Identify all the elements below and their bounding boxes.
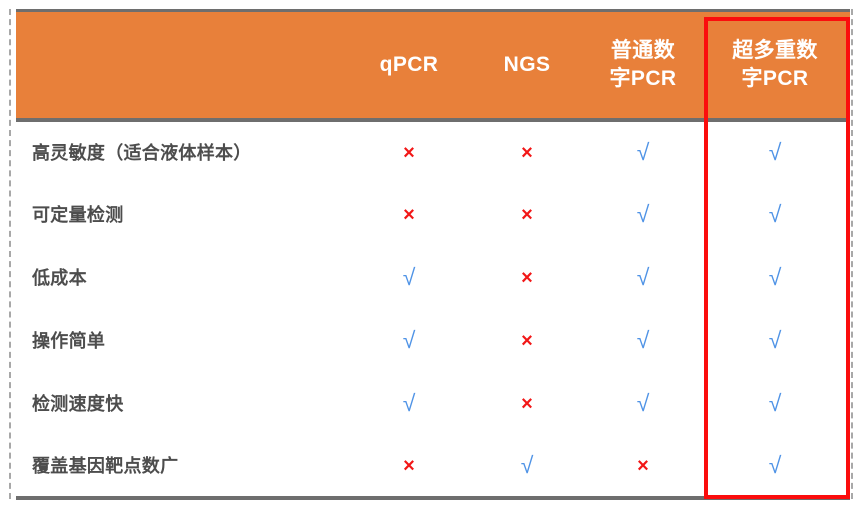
cell-multiplex-digital-pcr: √ — [700, 246, 850, 309]
row-label: 覆盖基因靶点数广 — [16, 435, 350, 498]
check-icon: √ — [637, 264, 650, 290]
cross-icon: × — [403, 204, 415, 226]
cell-digital-pcr: √ — [586, 246, 700, 309]
check-icon: √ — [769, 327, 782, 353]
check-icon: √ — [403, 327, 416, 353]
table-row: 覆盖基因靶点数广 × √ × √ — [16, 435, 850, 498]
cell-digital-pcr: √ — [586, 372, 700, 435]
column-header-multiplex-digital-pcr-line1: 超多重数 — [700, 37, 850, 65]
cell-ngs: × — [468, 183, 586, 246]
column-header-qpcr: qPCR — [350, 11, 468, 120]
comparison-table: qPCR NGS 普通数 字PCR 超多重数 字PCR 高灵敏度（适合液体样本）… — [16, 9, 850, 500]
column-header-digital-pcr-line1: 普通数 — [586, 37, 700, 65]
row-label: 操作简单 — [16, 309, 350, 372]
check-icon: √ — [637, 390, 650, 416]
cell-digital-pcr: √ — [586, 120, 700, 183]
table-row: 低成本 √ × √ √ — [16, 246, 850, 309]
check-icon: √ — [769, 139, 782, 165]
table-body: 高灵敏度（适合液体样本） × × √ √ 可定量检测 × × √ √ 低成本 √… — [16, 120, 850, 498]
cell-ngs: × — [468, 309, 586, 372]
check-icon: √ — [769, 201, 782, 227]
table-row: 检测速度快 √ × √ √ — [16, 372, 850, 435]
cell-qpcr: √ — [350, 372, 468, 435]
cross-icon: × — [403, 455, 415, 477]
check-icon: √ — [521, 452, 534, 478]
cell-multiplex-digital-pcr: √ — [700, 120, 850, 183]
check-icon: √ — [403, 264, 416, 290]
comparison-table-container: qPCR NGS 普通数 字PCR 超多重数 字PCR 高灵敏度（适合液体样本）… — [9, 9, 853, 499]
cell-ngs: × — [468, 372, 586, 435]
check-icon: √ — [403, 390, 416, 416]
column-header-multiplex-digital-pcr: 超多重数 字PCR — [700, 11, 850, 120]
check-icon: √ — [769, 390, 782, 416]
table-header: qPCR NGS 普通数 字PCR 超多重数 字PCR — [16, 11, 850, 120]
cell-qpcr: √ — [350, 309, 468, 372]
cell-ngs: √ — [468, 435, 586, 498]
column-header-digital-pcr-line2: 字PCR — [586, 65, 700, 93]
cell-digital-pcr: √ — [586, 183, 700, 246]
column-header-digital-pcr: 普通数 字PCR — [586, 11, 700, 120]
cross-icon: × — [521, 142, 533, 164]
cell-qpcr: × — [350, 183, 468, 246]
check-icon: √ — [637, 139, 650, 165]
cell-multiplex-digital-pcr: √ — [700, 435, 850, 498]
cell-qpcr: × — [350, 435, 468, 498]
cell-digital-pcr: √ — [586, 309, 700, 372]
cell-ngs: × — [468, 246, 586, 309]
cell-qpcr: √ — [350, 246, 468, 309]
cross-icon: × — [521, 393, 533, 415]
cell-qpcr: × — [350, 120, 468, 183]
cross-icon: × — [521, 330, 533, 352]
column-header-feature — [16, 11, 350, 120]
cross-icon: × — [403, 142, 415, 164]
table-row: 操作简单 √ × √ √ — [16, 309, 850, 372]
row-label: 可定量检测 — [16, 183, 350, 246]
check-icon: √ — [769, 264, 782, 290]
check-icon: √ — [637, 201, 650, 227]
row-label: 低成本 — [16, 246, 350, 309]
header-row: qPCR NGS 普通数 字PCR 超多重数 字PCR — [16, 11, 850, 120]
cell-digital-pcr: × — [586, 435, 700, 498]
cross-icon: × — [521, 204, 533, 226]
table-row: 可定量检测 × × √ √ — [16, 183, 850, 246]
cross-icon: × — [637, 455, 649, 477]
table-row: 高灵敏度（适合液体样本） × × √ √ — [16, 120, 850, 183]
cell-multiplex-digital-pcr: √ — [700, 372, 850, 435]
check-icon: √ — [769, 452, 782, 478]
cell-ngs: × — [468, 120, 586, 183]
row-label: 高灵敏度（适合液体样本） — [16, 120, 350, 183]
column-header-multiplex-digital-pcr-line2: 字PCR — [700, 65, 850, 93]
cross-icon: × — [521, 267, 533, 289]
cell-multiplex-digital-pcr: √ — [700, 183, 850, 246]
column-header-ngs: NGS — [468, 11, 586, 120]
row-label: 检测速度快 — [16, 372, 350, 435]
cell-multiplex-digital-pcr: √ — [700, 309, 850, 372]
check-icon: √ — [637, 327, 650, 353]
